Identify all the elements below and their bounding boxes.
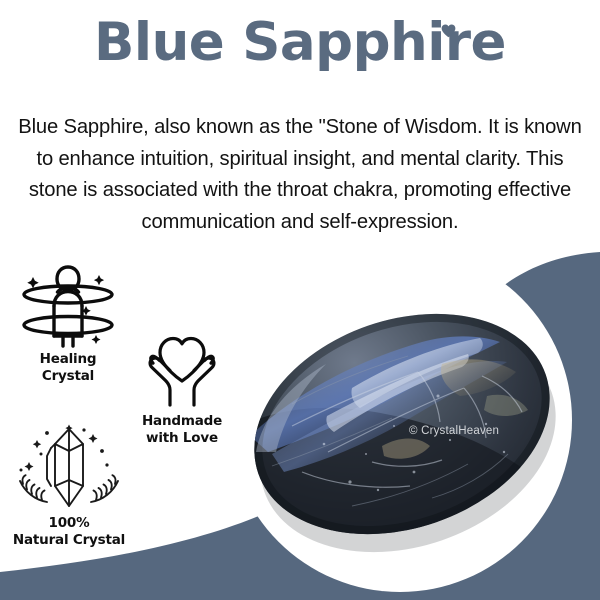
- page-title-text: Blue Sapphire: [94, 12, 506, 73]
- heart-icon: [441, 24, 456, 38]
- hands-holding-heart-icon: [140, 334, 224, 410]
- blue-sapphire-stone-image: [232, 276, 572, 566]
- description-text: Blue Sapphire, also known as the "Stone …: [12, 112, 588, 238]
- crystal-point-with-laurels-icon: [7, 424, 131, 512]
- meditating-figure-with-energy-rings-icon: [16, 262, 120, 348]
- badge-natural-crystal: 100% Natural Crystal: [0, 424, 138, 549]
- page-title: Blue Sapphire: [0, 10, 600, 76]
- product-info-card: Blue Sapphire Blue Sapphire, also known …: [0, 0, 600, 600]
- badge-natural-crystal-label: 100% Natural Crystal: [0, 515, 138, 549]
